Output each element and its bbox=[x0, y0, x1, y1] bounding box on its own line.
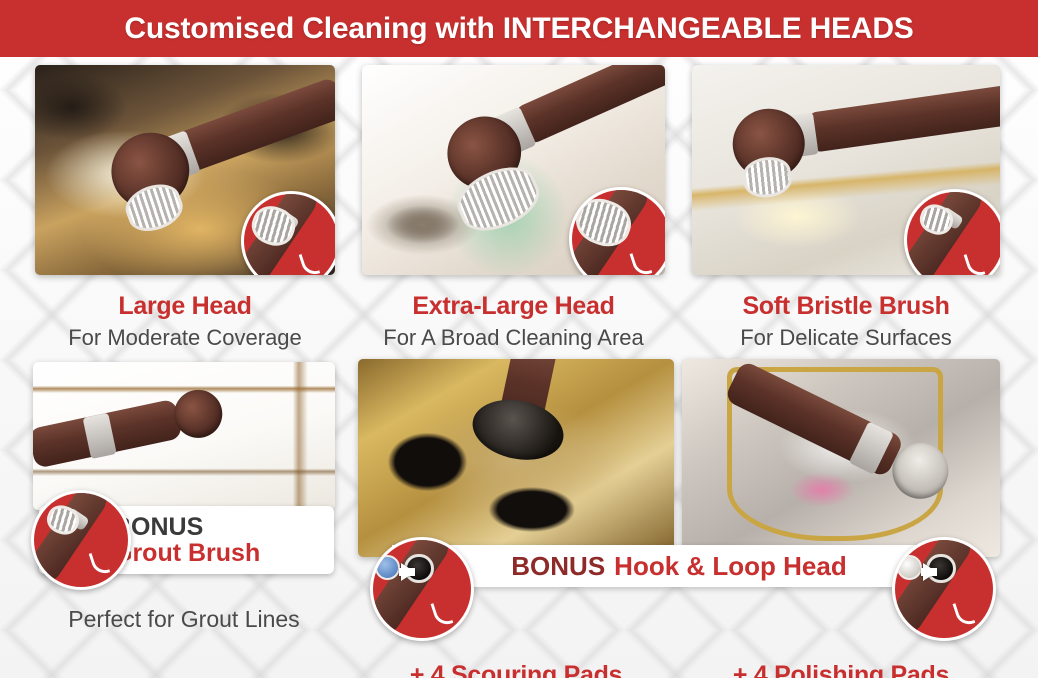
swap-arrow-icon bbox=[923, 563, 937, 581]
card-title: + 4 Polishing Pads bbox=[682, 662, 1000, 678]
page-title: Customised Cleaning with INTERCHANGEABLE… bbox=[124, 12, 913, 46]
swap-arrow-icon bbox=[401, 563, 415, 581]
card-caption: Soft Bristle Brush For Delicate Surfaces bbox=[692, 293, 1000, 351]
product-photo bbox=[362, 65, 665, 275]
product-photo bbox=[35, 65, 335, 275]
bonus-strip-headline: Hook & Loop Head bbox=[614, 551, 847, 582]
card-title: + 4 Scouring Pads bbox=[358, 662, 674, 678]
card-extra-large-head[interactable]: Extra-Large Head For A Broad Cleaning Ar… bbox=[362, 65, 665, 275]
card-polishing-pads[interactable]: + 4 Polishing Pads For A Finishing Shine bbox=[682, 359, 1000, 557]
badge-brush-head-round bbox=[241, 191, 335, 275]
card-scouring-pads[interactable]: + 4 Scouring Pads For Stuck On Grime bbox=[358, 359, 674, 557]
product-photo bbox=[682, 359, 1000, 557]
card-caption: + 4 Scouring Pads For Stuck On Grime bbox=[358, 662, 674, 678]
badge-polishing-pad-swap bbox=[892, 537, 996, 641]
card-subtitle: For Moderate Coverage bbox=[35, 324, 335, 352]
product-grid: Large Head For Moderate Coverage bbox=[0, 57, 1038, 678]
card-grout-brush[interactable]: BONUS Grout Brush Perfect for Grout Line… bbox=[33, 362, 335, 510]
card-caption: Large Head For Moderate Coverage bbox=[35, 293, 335, 351]
infographic-page: Customised Cleaning with INTERCHANGEABLE… bbox=[0, 0, 1038, 678]
card-subtitle: Perfect for Grout Lines bbox=[33, 605, 335, 634]
card-title: Extra-Large Head bbox=[362, 293, 665, 321]
product-photo bbox=[33, 362, 335, 510]
card-caption: + 4 Polishing Pads For A Finishing Shine bbox=[682, 662, 1000, 678]
card-caption: Extra-Large Head For A Broad Cleaning Ar… bbox=[362, 293, 665, 351]
product-photo bbox=[358, 359, 674, 557]
card-large-head[interactable]: Large Head For Moderate Coverage bbox=[35, 65, 335, 275]
badge-scouring-pad-swap bbox=[370, 537, 474, 641]
badge-brush-head-extra-large bbox=[569, 187, 665, 275]
badge-brush-head-grout bbox=[31, 490, 131, 590]
card-caption: Perfect for Grout Lines bbox=[33, 602, 335, 634]
card-subtitle: For A Broad Cleaning Area bbox=[362, 324, 665, 352]
header-banner: Customised Cleaning with INTERCHANGEABLE… bbox=[0, 0, 1038, 57]
bonus-strip-label: BONUS bbox=[511, 551, 605, 582]
bonus-hook-loop-banner: BONUS Hook & Loop Head bbox=[392, 545, 966, 587]
bonus-label-line2: Grout Brush bbox=[113, 540, 334, 566]
card-soft-bristle-brush[interactable]: Soft Bristle Brush For Delicate Surfaces bbox=[692, 65, 1000, 275]
card-title: Soft Bristle Brush bbox=[692, 293, 1000, 321]
bonus-label-line1: BONUS bbox=[113, 514, 334, 540]
card-subtitle: For Delicate Surfaces bbox=[692, 324, 1000, 352]
card-title: Large Head bbox=[35, 293, 335, 321]
badge-brush-head-soft bbox=[904, 189, 1000, 275]
product-photo bbox=[692, 65, 1000, 275]
